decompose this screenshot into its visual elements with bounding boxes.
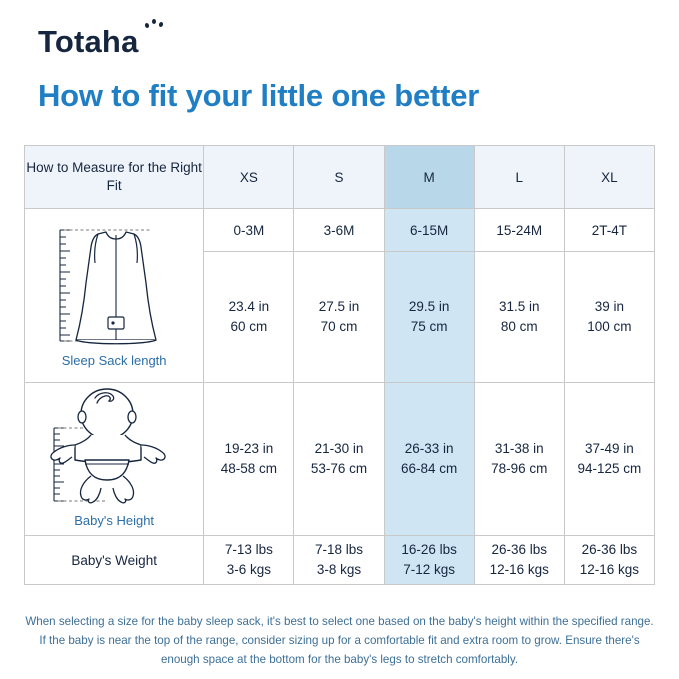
length-in-s: 27.5 in: [294, 297, 383, 317]
height-cm-xl: 94-125 cm: [565, 459, 654, 479]
age-cell-s: 3-6M: [294, 209, 384, 252]
weight-kgs-xs: 3-6 kgs: [204, 560, 293, 580]
table-row-baby-weight: Baby's Weight 7-13 lbs 3-6 kgs 7-18 lbs …: [25, 536, 655, 585]
weight-cell-l: 26-36 lbs 12-16 kgs: [474, 536, 564, 585]
weight-kgs-l: 12-16 kgs: [475, 560, 564, 580]
weight-lbs-l: 26-36 lbs: [475, 540, 564, 560]
height-in-xl: 37-49 in: [565, 439, 654, 459]
height-cell-xs: 19-23 in 48-58 cm: [204, 383, 294, 536]
height-cm-l: 78-96 cm: [475, 459, 564, 479]
height-in-s: 21-30 in: [294, 439, 383, 459]
weight-lbs-s: 7-18 lbs: [294, 540, 383, 560]
row-label-baby-weight: Baby's Weight: [25, 536, 204, 585]
weight-kgs-s: 3-8 kgs: [294, 560, 383, 580]
footer-note: When selecting a size for the baby sleep…: [24, 612, 655, 669]
length-in-l: 31.5 in: [475, 297, 564, 317]
age-cell-xs: 0-3M: [204, 209, 294, 252]
corner-header-cell: How to Measure for the Right Fit: [25, 146, 204, 209]
brand-name: Totaha: [38, 26, 139, 57]
baby-illustration-cell: Baby's Height: [25, 383, 204, 536]
size-header-xl: XL: [564, 146, 654, 209]
age-cell-xl: 2T-4T: [564, 209, 654, 252]
length-cell-s: 27.5 in 70 cm: [294, 252, 384, 383]
weight-cell-xs: 7-13 lbs 3-6 kgs: [204, 536, 294, 585]
sleep-sack-cell: Sleep Sack length: [25, 209, 204, 383]
row-label-baby-height: Baby's Height: [74, 513, 154, 530]
length-cell-xs: 23.4 in 60 cm: [204, 252, 294, 383]
weight-cell-xl: 26-36 lbs 12-16 kgs: [564, 536, 654, 585]
logo-dot-icon: [152, 19, 156, 24]
height-cell-l: 31-38 in 78-96 cm: [474, 383, 564, 536]
table-row-age: Sleep Sack length 0-3M 3-6M 6-15M 15-24M…: [25, 209, 655, 252]
age-cell-l: 15-24M: [474, 209, 564, 252]
size-header-s: S: [294, 146, 384, 209]
length-in-m: 29.5 in: [385, 297, 474, 317]
length-cell-xl: 39 in 100 cm: [564, 252, 654, 383]
height-in-m: 26-33 in: [385, 439, 474, 459]
length-cm-xl: 100 cm: [565, 317, 654, 337]
weight-lbs-m: 16-26 lbs: [385, 540, 474, 560]
brand-logo: Totaha: [38, 26, 139, 57]
size-header-m: M: [384, 146, 474, 209]
weight-kgs-xl: 12-16 kgs: [565, 560, 654, 580]
height-cm-s: 53-76 cm: [294, 459, 383, 479]
size-header-xs: XS: [204, 146, 294, 209]
logo-dot-icon: [144, 23, 149, 29]
height-cm-m: 66-84 cm: [385, 459, 474, 479]
age-cell-m: 6-15M: [384, 209, 474, 252]
weight-kgs-m: 7-12 kgs: [385, 560, 474, 580]
table-header-row: How to Measure for the Right Fit XS S M …: [25, 146, 655, 209]
sleep-sack-illustration: [34, 221, 194, 353]
row-label-sleep-sack-length: Sleep Sack length: [62, 353, 167, 370]
baby-illustration: [29, 388, 199, 513]
height-cell-xl: 37-49 in 94-125 cm: [564, 383, 654, 536]
table-row-baby-height: Baby's Height 19-23 in 48-58 cm 21-30 in…: [25, 383, 655, 536]
length-in-xs: 23.4 in: [204, 297, 293, 317]
length-in-xl: 39 in: [565, 297, 654, 317]
length-cell-m: 29.5 in 75 cm: [384, 252, 474, 383]
height-cm-xs: 48-58 cm: [204, 459, 293, 479]
logo-dot-icon: [158, 22, 163, 28]
length-cm-s: 70 cm: [294, 317, 383, 337]
weight-lbs-xs: 7-13 lbs: [204, 540, 293, 560]
size-chart-table: How to Measure for the Right Fit XS S M …: [24, 145, 655, 585]
length-cell-l: 31.5 in 80 cm: [474, 252, 564, 383]
height-in-l: 31-38 in: [475, 439, 564, 459]
height-cell-s: 21-30 in 53-76 cm: [294, 383, 384, 536]
height-cell-m: 26-33 in 66-84 cm: [384, 383, 474, 536]
length-cm-xs: 60 cm: [204, 317, 293, 337]
length-cm-m: 75 cm: [385, 317, 474, 337]
page-title: How to fit your little one better: [38, 78, 479, 114]
size-header-l: L: [474, 146, 564, 209]
weight-cell-m: 16-26 lbs 7-12 kgs: [384, 536, 474, 585]
weight-cell-s: 7-18 lbs 3-8 kgs: [294, 536, 384, 585]
weight-lbs-xl: 26-36 lbs: [565, 540, 654, 560]
length-cm-l: 80 cm: [475, 317, 564, 337]
height-in-xs: 19-23 in: [204, 439, 293, 459]
